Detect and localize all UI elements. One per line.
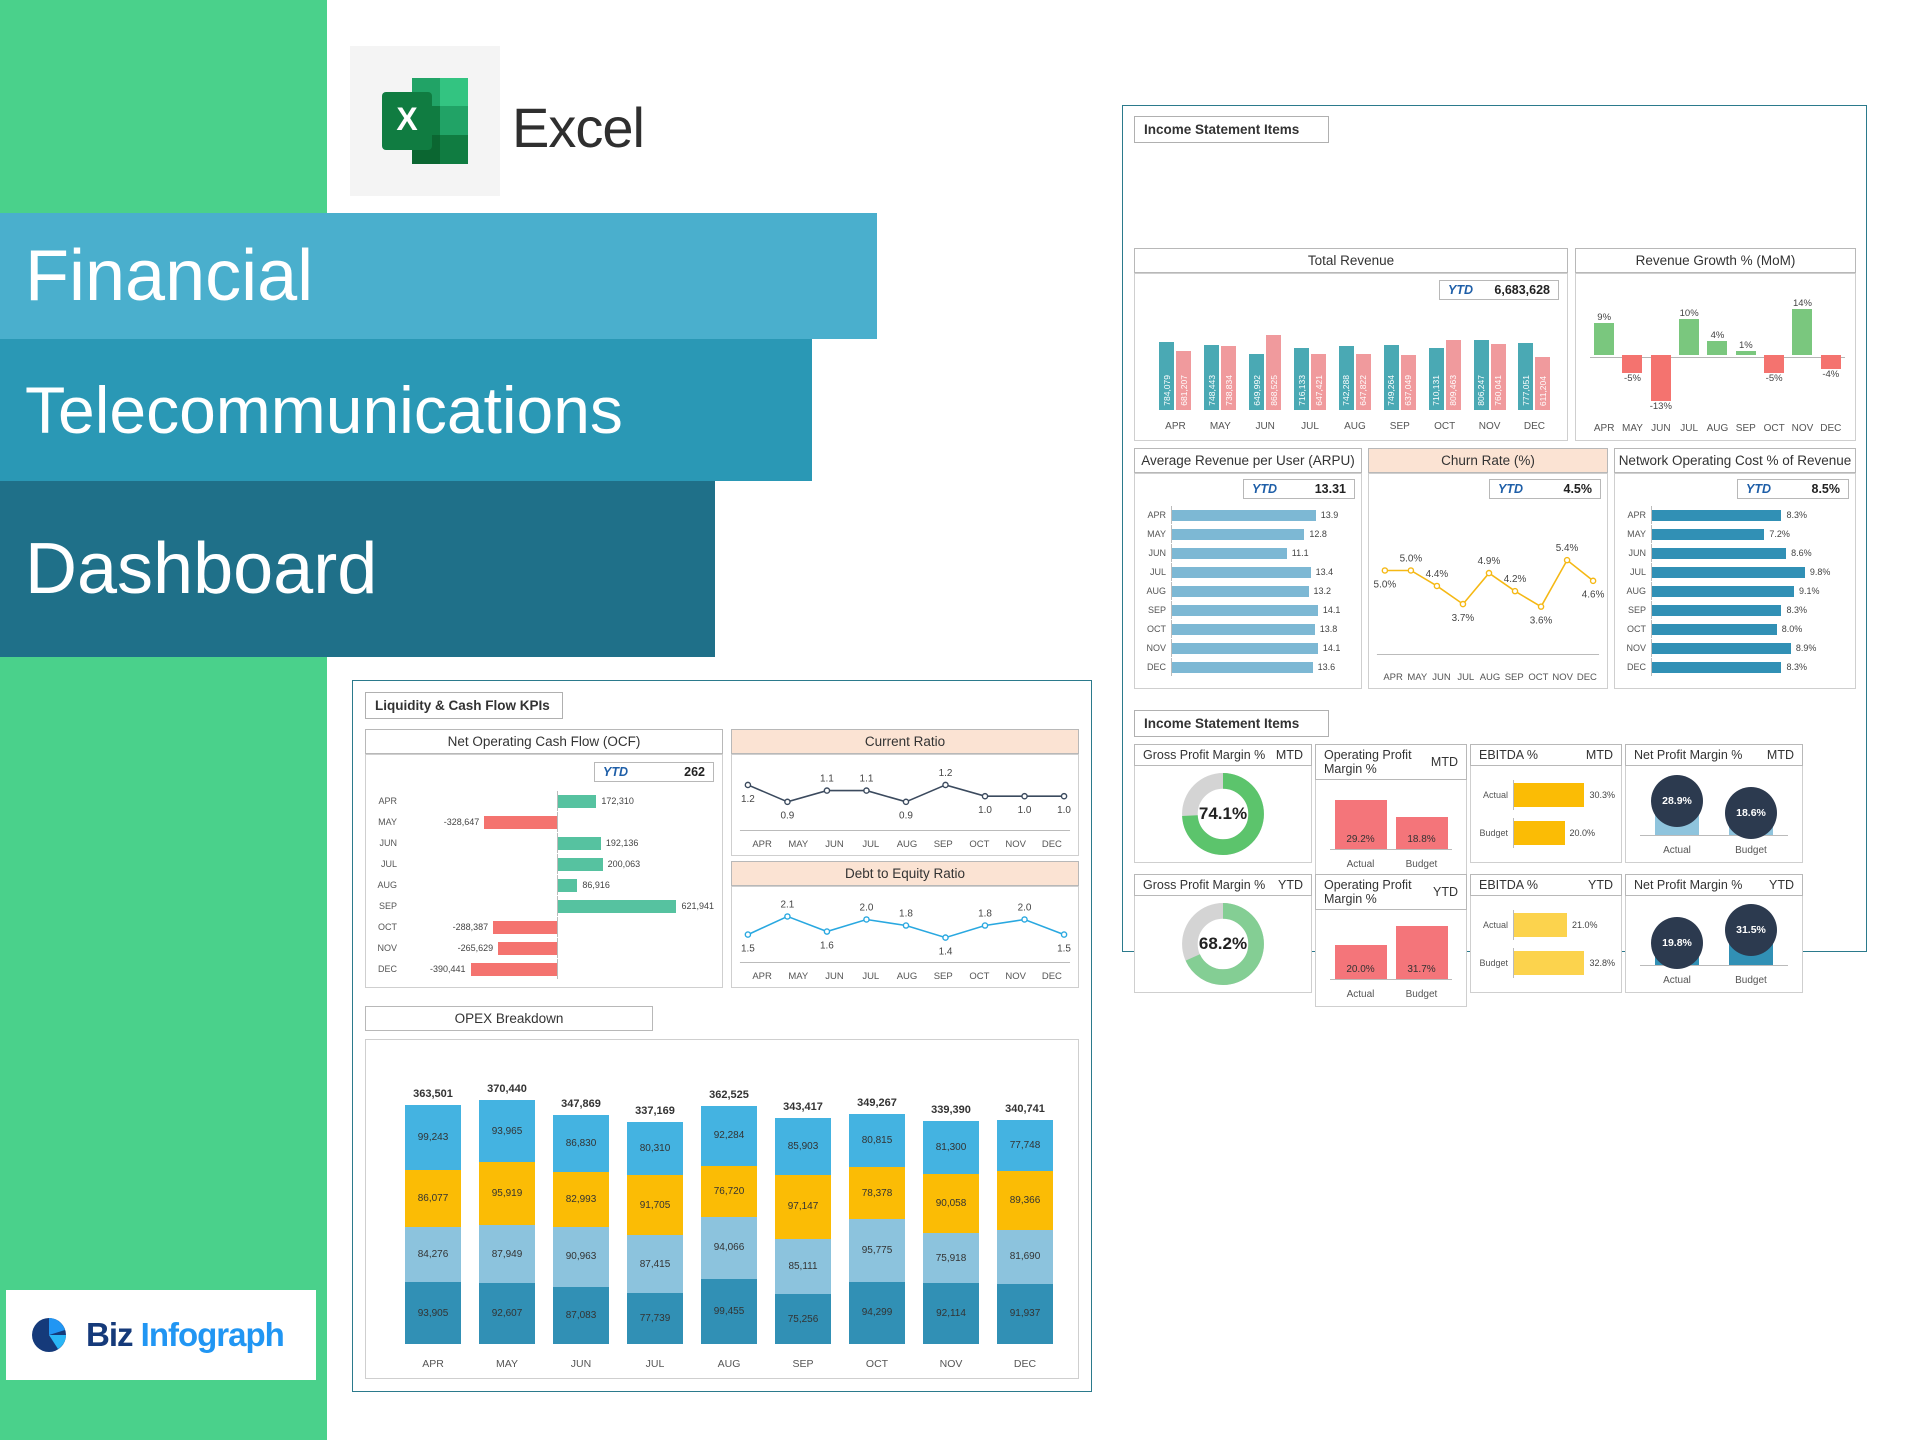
bar-value-label: 806,247 <box>1476 375 1486 406</box>
data-point-label: 4.6% <box>1582 590 1605 601</box>
bar-track: -390,441 <box>402 959 714 979</box>
axis-tick: Budget <box>1725 975 1777 986</box>
bar <box>471 963 557 976</box>
bar-value-label: 13.4 <box>1316 567 1334 577</box>
data-point <box>824 788 829 793</box>
stack-column: 349,26780,81578,37895,77594,299 <box>847 1097 907 1344</box>
ocf-ytd: YTD 262 <box>594 762 714 782</box>
bar: 637,049 <box>1401 355 1416 410</box>
stack: 92,28476,72094,06699,455 <box>701 1106 757 1345</box>
bar: 19.8% <box>1655 943 1699 965</box>
axis-tick: OCT <box>847 1358 907 1370</box>
arpu-bars: APR13.9MAY12.8JUN11.1JUL13.4AUG13.2SEP14… <box>1141 506 1353 676</box>
bar-group: 716,133647,421 <box>1294 332 1326 410</box>
bar-group: 748,443738,834 <box>1204 332 1236 410</box>
data-point <box>903 923 908 928</box>
ocf-bars: APR172,310MAY-328,647JUN192,136JUL200,06… <box>372 791 714 979</box>
income-statement-tag-2[interactable]: Income Statement Items <box>1134 710 1329 737</box>
npm-mtd-bars: 28.9%18.6% <box>1640 796 1788 836</box>
bar-value-label: 10% <box>1680 308 1699 319</box>
opex-axis: APRMAYJUNJULAUGSEPOCTNOVDEC <box>396 1358 1062 1370</box>
bar-column: -13% <box>1647 298 1675 412</box>
debt-equity-title: Debt to Equity Ratio <box>731 861 1079 886</box>
axis-tick: OCT <box>961 971 997 982</box>
bar-row: SEP14.1 <box>1141 601 1353 619</box>
bar <box>498 942 557 955</box>
axis-tick: MAY <box>1202 421 1238 432</box>
debt-equity-plot[interactable]: 1.52.11.62.01.81.41.82.01.5 APRMAYJUNJUL… <box>731 886 1079 988</box>
bar: 647,822 <box>1356 354 1371 410</box>
bar-value-label: 9.8% <box>1810 567 1831 577</box>
data-point <box>1512 589 1517 594</box>
ytd-label: YTD <box>1252 482 1277 496</box>
axis-tick: AUG <box>1337 421 1373 432</box>
card-header: EBITDA % YTD <box>1470 874 1622 896</box>
bars-body[interactable]: Actual30.3%Budget20.0% <box>1470 766 1622 863</box>
total-revenue-plot[interactable]: YTD 6,683,628 784,079681,207748,443738,8… <box>1134 273 1568 441</box>
ocf-plot[interactable]: YTD 262 APR172,310MAY-328,647JUN192,136J… <box>365 754 723 988</box>
network-cost-plot[interactable]: YTD 8.5% APR8.3%MAY7.2%JUN8.6%JUL9.8%AUG… <box>1614 473 1856 689</box>
bar-value-label: 12.8 <box>1309 529 1327 539</box>
stack-segment: 89,366 <box>997 1171 1053 1230</box>
axis-tick: Budget <box>1396 989 1448 1000</box>
bar <box>493 921 557 934</box>
data-point-label: 1.5 <box>1057 943 1071 954</box>
npm-ytd-axis: ActualBudget <box>1640 975 1788 986</box>
category-label: OCT <box>1141 624 1171 634</box>
data-point-label: 1.4 <box>939 946 953 957</box>
stack-segment: 94,066 <box>701 1217 757 1279</box>
stack-segment: 77,748 <box>997 1120 1053 1171</box>
bar-value-label: 742,288 <box>1341 375 1351 406</box>
bar-track: -265,629 <box>402 938 714 958</box>
bar <box>1514 951 1584 975</box>
donut-body[interactable]: 68.2% <box>1134 896 1312 993</box>
bar: 28.9% <box>1655 801 1699 835</box>
axis-tick: MAY <box>477 1358 537 1370</box>
bar-value-label: 13.2 <box>1314 586 1332 596</box>
bar-track: 9.8% <box>1651 563 1847 581</box>
bar-column: 14% <box>1788 298 1816 412</box>
title-line-3: Dashboard <box>25 528 377 610</box>
bar <box>1652 662 1781 673</box>
card-period: MTD <box>1767 748 1794 762</box>
stack-segment: 99,455 <box>701 1279 757 1344</box>
data-point <box>1061 932 1066 937</box>
current-ratio-plot[interactable]: 1.20.91.11.10.91.21.01.01.0 APRMAYJUNJUL… <box>731 754 1079 856</box>
bar: 681,207 <box>1176 351 1191 410</box>
data-point-label: 1.2 <box>741 794 755 805</box>
bar <box>1652 643 1791 654</box>
bar: 31.5% <box>1729 930 1773 965</box>
bar-value-label: 86,916 <box>582 880 610 890</box>
card-header: Net Profit Margin % YTD <box>1625 874 1803 896</box>
bar <box>558 837 601 850</box>
stack-total-label: 347,869 <box>561 1098 601 1110</box>
bar-row: APR8.3% <box>1621 506 1847 524</box>
stack-segment: 91,937 <box>997 1284 1053 1344</box>
data-point-label: 2.0 <box>1018 903 1032 914</box>
bars-body[interactable]: 29.2%18.8% ActualBudget <box>1315 780 1467 877</box>
bar-value-label: 8.0% <box>1782 624 1803 634</box>
bar-value-label: 9.1% <box>1799 586 1820 596</box>
bar <box>1172 529 1304 540</box>
churn-axis: APRMAYJUNJULAUGSEPOCTNOVDEC <box>1381 672 1599 683</box>
bar: 760,041 <box>1491 344 1506 410</box>
revenue-growth-axis: APRMAYJUNJULAUGSEPOCTNOVDEC <box>1590 423 1845 434</box>
stack-total-label: 370,440 <box>487 1083 527 1095</box>
axis-tick: SEP <box>925 839 961 850</box>
bar-row: NOV8.9% <box>1621 639 1847 657</box>
bar <box>1594 323 1614 355</box>
bar-row: OCT8.0% <box>1621 620 1847 638</box>
category-label: MAY <box>372 817 402 827</box>
total-revenue-axis: APRMAYJUNJULAUGSEPOCTNOVDEC <box>1153 421 1557 432</box>
churn-rate-title: Churn Rate (%) <box>1368 448 1608 473</box>
category-label: Actual <box>1475 790 1513 800</box>
bar-row: SEP8.3% <box>1621 601 1847 619</box>
bar: 647,421 <box>1311 354 1326 410</box>
ebitda-mtd-bars: Actual30.3%Budget20.0% <box>1475 780 1615 848</box>
category-label: DEC <box>372 964 402 974</box>
data-point-label: 5.4% <box>1556 543 1579 554</box>
bar <box>1821 355 1841 369</box>
liquidity-tag[interactable]: Liquidity & Cash Flow KPIs <box>365 692 563 719</box>
bar-value-label: 637,049 <box>1403 375 1413 406</box>
bar <box>1652 510 1781 521</box>
axis-tick: DEC <box>1516 421 1552 432</box>
bar-track: 8.3% <box>1651 658 1847 676</box>
bar <box>484 816 557 829</box>
axis-tick: NOV <box>921 1358 981 1370</box>
bar-value-label: 4% <box>1711 330 1725 341</box>
bar-column: 1% <box>1732 298 1760 412</box>
bar: 29.2% <box>1335 800 1387 849</box>
axis-tick: DEC <box>1575 672 1599 683</box>
biz-logo-text: Biz Infograph <box>86 1316 284 1354</box>
axis-tick: JUN <box>1647 423 1675 434</box>
axis-tick: MAY <box>1618 423 1646 434</box>
bar-track: 621,941 <box>402 896 714 916</box>
operating-profit-margin-mtd-card: Operating Profit Margin % MTD 29.2%18.8%… <box>1315 744 1467 866</box>
data-point-label: 2.1 <box>781 900 795 911</box>
bar <box>1172 643 1318 654</box>
npm-mtd-axis: ActualBudget <box>1640 845 1788 856</box>
opex-chart: OPEX Breakdown 363,50199,24386,07784,276… <box>365 1006 1079 1374</box>
bar-row: JUL9.8% <box>1621 563 1847 581</box>
axis-tick: NOV <box>1788 423 1816 434</box>
category-label: SEP <box>1621 605 1651 615</box>
pie-chart-icon <box>28 1313 72 1357</box>
opex-plot[interactable]: 363,50199,24386,07784,27693,905370,44093… <box>365 1039 1079 1379</box>
ebitda-mtd-card: EBITDA % MTD Actual30.3%Budget20.0% <box>1470 744 1622 866</box>
category-label: OCT <box>372 922 402 932</box>
bar-value-label: 21.0% <box>1572 920 1598 930</box>
category-label: JUL <box>1621 567 1651 577</box>
data-point-label: 4.2% <box>1504 574 1527 585</box>
category-label: AUG <box>1621 586 1651 596</box>
arpu-plot[interactable]: YTD 13.31 APR13.9MAY12.8JUN11.1JUL13.4AU… <box>1134 473 1362 689</box>
category-label: JUL <box>372 859 402 869</box>
data-point-label: 1.0 <box>1057 805 1071 816</box>
axis-tick: JUN <box>1429 672 1453 683</box>
data-point-label: 1.1 <box>820 774 834 785</box>
bar-row: MAY12.8 <box>1141 525 1353 543</box>
data-point-label: 5.0% <box>1374 579 1397 590</box>
bar-value-label: 32.8% <box>1589 958 1615 968</box>
value-badge: 18.6% <box>1725 787 1777 839</box>
category-label: NOV <box>372 943 402 953</box>
donut-value: 74.1% <box>1135 766 1311 862</box>
axis-tick: OCT <box>961 839 997 850</box>
data-point-label: 1.6 <box>820 940 834 951</box>
stack-segment: 90,058 <box>923 1174 979 1233</box>
axis-tick: AUG <box>889 839 925 850</box>
current-ratio-chart: Current Ratio 1.20.91.11.10.91.21.01.01.… <box>731 729 1079 855</box>
stack-segment: 86,077 <box>405 1170 461 1227</box>
bar-row: SEP621,941 <box>372 896 714 916</box>
axis-tick: MAY <box>780 839 816 850</box>
network-ytd: YTD 8.5% <box>1737 479 1849 499</box>
bar-value-label: -288,387 <box>453 922 489 932</box>
network-cost-bars: APR8.3%MAY7.2%JUN8.6%JUL9.8%AUG9.1%SEP8.… <box>1621 506 1847 676</box>
bars-body[interactable]: 28.9%18.6% ActualBudget <box>1625 766 1803 863</box>
bar-track: 86,916 <box>402 875 714 895</box>
card-period: YTD <box>1433 885 1458 899</box>
bar: 749,264 <box>1384 345 1399 410</box>
axis-tick: SEP <box>925 971 961 982</box>
donut-body[interactable]: 74.1% <box>1134 766 1312 863</box>
stack-segment: 84,276 <box>405 1227 461 1282</box>
bars-body[interactable]: 20.0%31.7% ActualBudget <box>1315 910 1467 1007</box>
bar <box>1652 624 1777 635</box>
bar: 868,525 <box>1266 335 1281 410</box>
axis-tick: Budget <box>1396 859 1448 870</box>
bar-value-label: 200,063 <box>608 859 641 869</box>
bar-row: DEC13.6 <box>1141 658 1353 676</box>
data-point <box>1408 568 1413 573</box>
bar-value-label: 29.2% <box>1346 834 1374 845</box>
stack-column: 343,41785,90397,14785,11175,256 <box>773 1101 833 1344</box>
ytd-label: YTD <box>1448 283 1473 297</box>
bar-value-label: 868,525 <box>1269 375 1279 406</box>
bar-value-label: 649,992 <box>1252 375 1262 406</box>
bar-row: Actual30.3% <box>1475 780 1615 810</box>
axis-tick: DEC <box>1817 423 1845 434</box>
bar: 611,204 <box>1535 357 1550 410</box>
bar-value-label: -5% <box>1766 373 1783 384</box>
category-label: APR <box>1621 510 1651 520</box>
bar <box>1514 783 1584 807</box>
category-label: Budget <box>1475 958 1513 968</box>
excel-logo-box: X <box>350 46 500 196</box>
bar-column: 4% <box>1703 298 1731 412</box>
axis-tick: AUG <box>889 971 925 982</box>
data-point-label: 0.9 <box>781 811 795 822</box>
stack-segment: 76,720 <box>701 1166 757 1216</box>
bar <box>1172 586 1309 597</box>
bar-group: 710,131809,463 <box>1429 332 1461 410</box>
stack-segment: 87,415 <box>627 1235 683 1293</box>
data-point-label: 2.0 <box>860 903 874 914</box>
axis-tick: MAY <box>780 971 816 982</box>
title-band-financial: Financial <box>0 213 877 339</box>
axis-tick: DEC <box>1034 971 1070 982</box>
card-title: Gross Profit Margin % <box>1143 878 1265 892</box>
bar-track: 30.3% <box>1513 780 1615 810</box>
category-label: SEP <box>372 901 402 911</box>
stack: 80,31091,70587,41577,739 <box>627 1122 683 1344</box>
bar-row: JUN11.1 <box>1141 544 1353 562</box>
revenue-growth-chart: Revenue Growth % (MoM) 9%-5%-13%10%4%1%-… <box>1575 248 1856 440</box>
data-point-label: 1.5 <box>741 943 755 954</box>
stack: 99,24386,07784,27693,905 <box>405 1105 461 1344</box>
data-point-label: 1.8 <box>899 909 913 920</box>
current-ratio-title: Current Ratio <box>731 729 1079 754</box>
data-point <box>1591 578 1596 583</box>
data-point <box>864 917 869 922</box>
stack-column: 363,50199,24386,07784,27693,905 <box>403 1088 463 1344</box>
bar-value-label: 7.2% <box>1769 529 1790 539</box>
bar-group: 749,264637,049 <box>1384 332 1416 410</box>
bar-value-label: 784,079 <box>1162 375 1172 406</box>
axis-tick: AUG <box>1478 672 1502 683</box>
bar-value-label: 647,421 <box>1314 375 1324 406</box>
card-title: Net Profit Margin % <box>1634 748 1742 762</box>
bar: 738,834 <box>1221 346 1236 410</box>
bar-column: -5% <box>1760 298 1788 412</box>
bar <box>1652 605 1781 616</box>
stack-segment: 81,690 <box>997 1230 1053 1284</box>
axis-tick: JUL <box>1675 423 1703 434</box>
bar-value-label: 681,207 <box>1179 375 1189 406</box>
bar-group: 649,992868,525 <box>1249 332 1281 410</box>
axis-tick: DEC <box>1034 839 1070 850</box>
churn-rate-plot[interactable]: YTD 4.5% 5.0%5.0%4.4%3.7%4.9%4.2%3.6%5.4… <box>1368 473 1608 689</box>
card-title: EBITDA % <box>1479 748 1538 762</box>
bar <box>1652 548 1786 559</box>
card-title: EBITDA % <box>1479 878 1538 892</box>
category-label: JUN <box>1621 548 1651 558</box>
bar <box>1707 341 1727 355</box>
card-period: YTD <box>1769 878 1794 892</box>
category-label: OCT <box>1621 624 1651 634</box>
bar-value-label: 611,204 <box>1538 376 1548 406</box>
revenue-growth-plot[interactable]: 9%-5%-13%10%4%1%-5%14%-4% APRMAYJUNJULAU… <box>1575 273 1856 441</box>
title-band-dashboard: Dashboard <box>0 481 715 657</box>
bar-group: 784,079681,207 <box>1159 332 1191 410</box>
bar-value-label: 14.1 <box>1323 605 1341 615</box>
stack-segment: 91,705 <box>627 1175 683 1235</box>
bar <box>1172 510 1316 521</box>
bar-value-label: 8.3% <box>1786 662 1807 672</box>
excel-wordmark: Excel <box>512 95 644 160</box>
net-profit-margin-ytd-card: Net Profit Margin % YTD 19.8%31.5% Actua… <box>1625 874 1803 996</box>
liquidity-panel: Liquidity & Cash Flow KPIs Net Operating… <box>352 680 1092 1392</box>
bar-value-label: 30.3% <box>1589 790 1615 800</box>
biz-infograph-logo: Biz Infograph <box>6 1290 316 1380</box>
bar-row: AUG13.2 <box>1141 582 1353 600</box>
bar-group: 777,051611,204 <box>1518 332 1550 410</box>
bars-body[interactable]: 19.8%31.5% ActualBudget <box>1625 896 1803 993</box>
card-header: EBITDA % MTD <box>1470 744 1622 766</box>
bar-track: 200,063 <box>402 854 714 874</box>
data-point-label: 1.2 <box>939 768 953 779</box>
stack-segment: 81,300 <box>923 1121 979 1174</box>
stack-column: 370,44093,96595,91987,94992,607 <box>477 1083 537 1344</box>
bar-track: 13.2 <box>1171 582 1353 600</box>
category-label: DEC <box>1621 662 1651 672</box>
bar-track: 20.0% <box>1513 818 1615 848</box>
category-label: DEC <box>1141 662 1171 672</box>
bar-value-label: 760,041 <box>1493 375 1503 406</box>
bar: 748,443 <box>1204 345 1219 410</box>
axis-tick: OCT <box>1760 423 1788 434</box>
stack-column: 362,52592,28476,72094,06699,455 <box>699 1089 759 1345</box>
net-profit-margin-mtd-card: Net Profit Margin % MTD 28.9%18.6% Actua… <box>1625 744 1803 866</box>
axis-tick: SEP <box>1732 423 1760 434</box>
data-point <box>1486 570 1491 575</box>
axis-tick: SEP <box>773 1358 833 1370</box>
bar-value-label: 748,443 <box>1207 375 1217 406</box>
bar-row: APR13.9 <box>1141 506 1353 524</box>
axis-tick: JUN <box>1247 421 1283 432</box>
card-title: Net Profit Margin % <box>1634 878 1742 892</box>
npm-ytd-bars: 19.8%31.5% <box>1640 926 1788 966</box>
bar-value-label: -390,441 <box>430 964 466 974</box>
data-point <box>943 782 948 787</box>
total-revenue-ytd: YTD 6,683,628 <box>1439 280 1559 300</box>
bar-row: Actual21.0% <box>1475 910 1615 940</box>
stack: 77,74889,36681,69091,937 <box>997 1120 1053 1344</box>
data-point <box>1022 794 1027 799</box>
total-revenue-title: Total Revenue <box>1134 248 1568 273</box>
value-badge: 19.8% <box>1651 917 1703 969</box>
bar-value-label: 31.7% <box>1407 964 1435 975</box>
bar-group: 806,247760,041 <box>1474 332 1506 410</box>
bar: 18.6% <box>1729 813 1773 835</box>
bar: 710,131 <box>1429 348 1444 410</box>
stack-segment: 77,739 <box>627 1293 683 1344</box>
data-point <box>1382 568 1387 573</box>
bar-track: 14.1 <box>1171 639 1353 657</box>
ytd-value: 8.5% <box>1812 482 1841 496</box>
stack-segment: 85,903 <box>775 1118 831 1175</box>
title-line-1: Financial <box>25 235 313 317</box>
total-revenue-chart: Total Revenue YTD 6,683,628 784,079681,2… <box>1134 248 1568 440</box>
bar <box>1651 355 1671 401</box>
bar <box>1172 624 1315 635</box>
bar <box>558 795 596 808</box>
income-statement-tag[interactable]: Income Statement Items <box>1134 116 1329 143</box>
bar-row: OCT-288,387 <box>372 917 714 937</box>
data-point-label: 4.9% <box>1478 556 1501 567</box>
bar-value-label: 716,133 <box>1297 375 1307 406</box>
bar-track: 172,310 <box>402 791 714 811</box>
axis-tick: OCT <box>1526 672 1550 683</box>
opm-ytd-axis: ActualBudget <box>1330 989 1452 1000</box>
bar-value-label: 621,941 <box>681 901 714 911</box>
bar-column: 9% <box>1590 298 1618 412</box>
bar-row: DEC8.3% <box>1621 658 1847 676</box>
donut-value: 68.2% <box>1135 896 1311 992</box>
ytd-value: 262 <box>684 765 705 779</box>
bar-track: 8.3% <box>1651 506 1847 524</box>
bar-row: NOV-265,629 <box>372 938 714 958</box>
bar-value-label: 8.9% <box>1796 643 1817 653</box>
data-point-label: 1.0 <box>1018 805 1032 816</box>
bars-body[interactable]: Actual21.0%Budget32.8% <box>1470 896 1622 993</box>
